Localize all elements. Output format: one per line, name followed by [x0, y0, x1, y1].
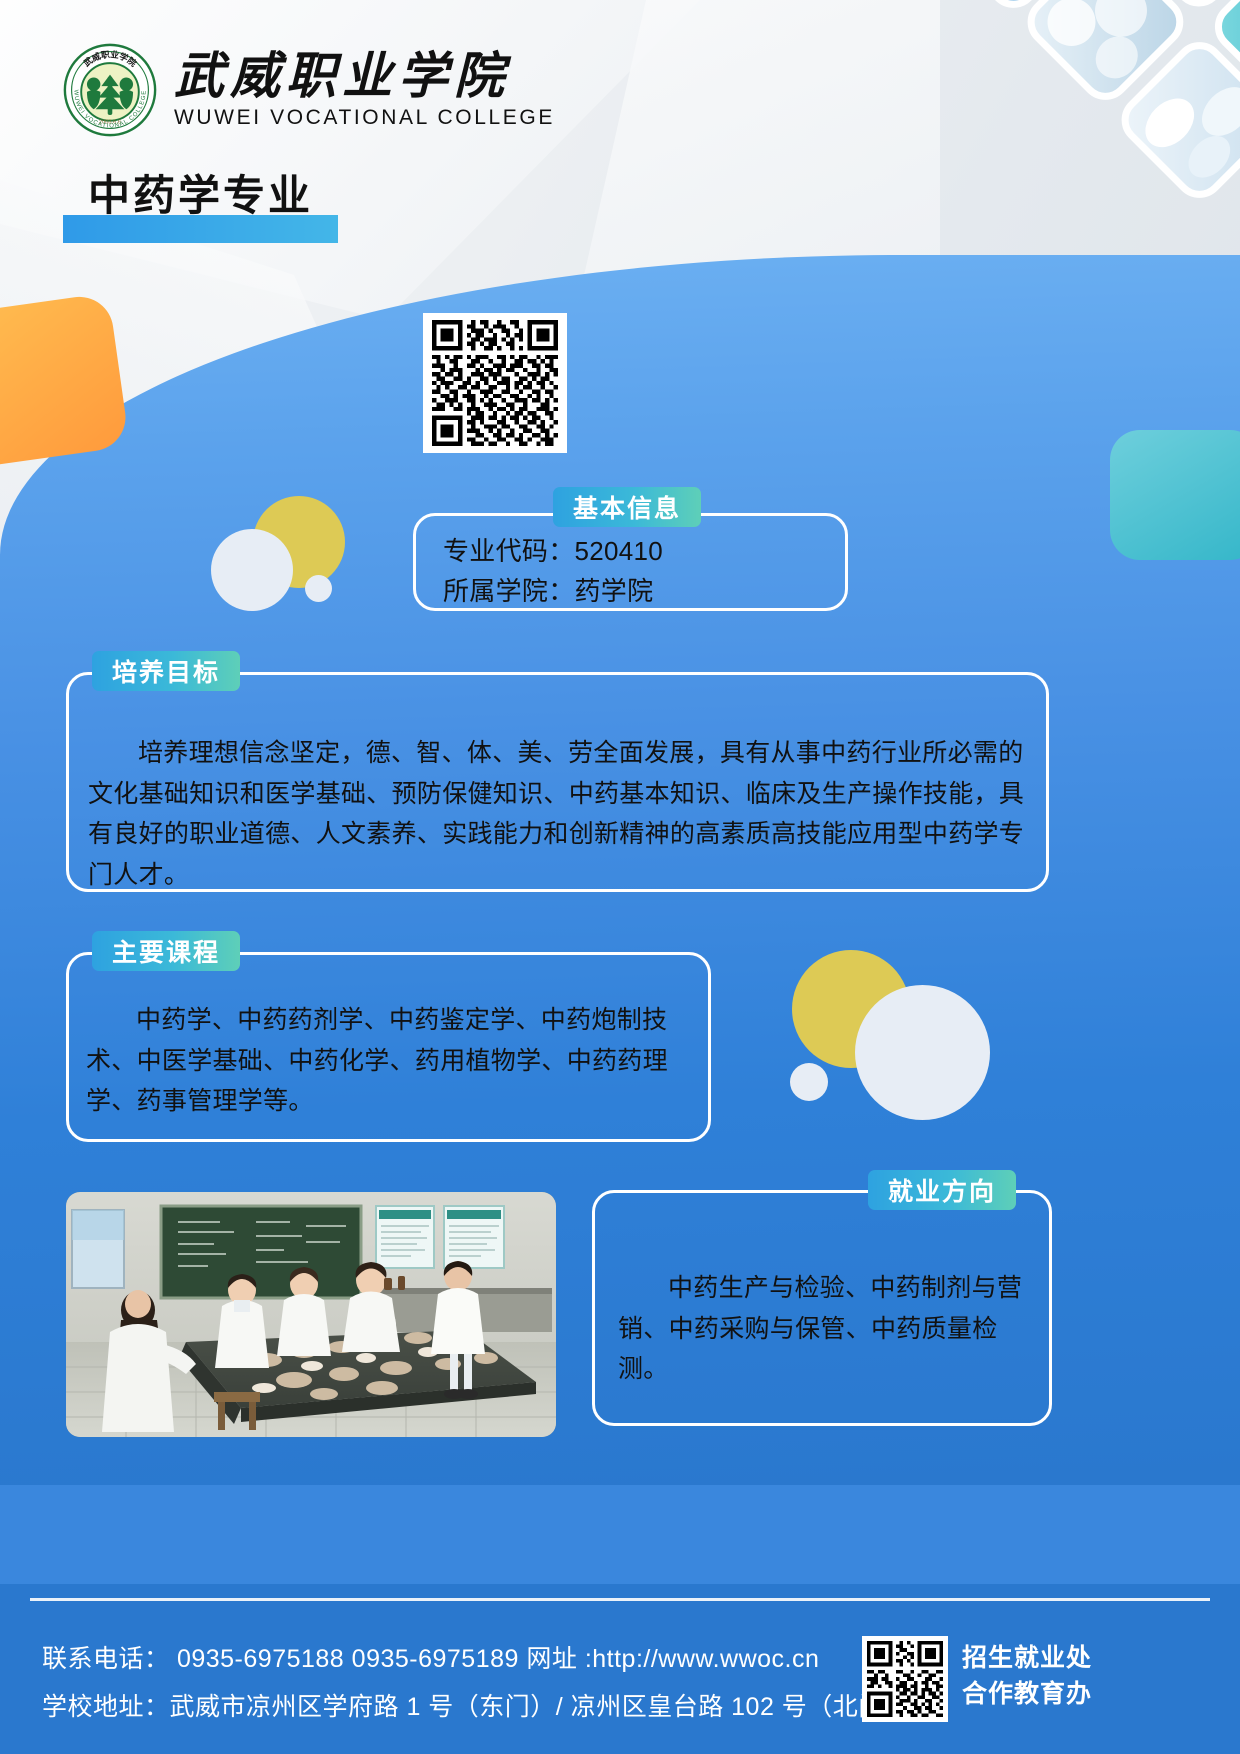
main-courses-label: 主要课程 [92, 931, 240, 971]
employment-text: 中药生产与检验、中药制剂与营销、中药采购与保管、中药质量检测。 [618, 1268, 1030, 1390]
basic-info-label: 基本信息 [553, 487, 701, 527]
employment-label: 就业方向 [868, 1170, 1016, 1210]
college-wordmark: 武威职业学院 WUWEI VOCATIONAL COLLEGE [174, 50, 555, 131]
major-code-line: 专业代码：520410 [443, 531, 843, 571]
training-goal-text: 培养理想信念坚定，德、智、体、美、劳全面发展，具有从事中药行业所必需的文化基础知… [88, 733, 1036, 895]
footer-divider [30, 1598, 1210, 1601]
college-name-en: WUWEI VOCATIONAL COLLEGE [174, 106, 555, 130]
main-courses-text: 中药学、中药药剂学、中药鉴定学、中药炮制技术、中医学基础、中药化学、药用植物学、… [86, 1000, 696, 1122]
footer-dept-line-2: 合作教育办 [962, 1676, 1092, 1712]
qr-code[interactable] [423, 313, 567, 453]
poster-root: 2003.6.6 武威职业学院 WUWEI VOCATIONAL COLLEGE… [0, 0, 1240, 1754]
footer-contact-line: 联系电话： 0935-6975188 0935-6975189 网址 :http… [42, 1639, 819, 1675]
decor-bubble-white-1 [211, 529, 293, 611]
footer-department: 招生就业处 合作教育办 [962, 1640, 1092, 1713]
footer-qr-code[interactable] [862, 1636, 948, 1722]
classroom-photo-image [66, 1192, 556, 1437]
major-title-block: 中药学专业 [60, 175, 327, 217]
footer: 联系电话： 0935-6975188 0935-6975189 网址 :http… [0, 1584, 1240, 1754]
footer-address-line: 学校地址：武威市凉州区学府路 1 号（东门）/ 凉州区皇台路 102 号（北门） [42, 1687, 909, 1723]
basic-info-text: 专业代码：520410 所属学院：药学院 [443, 531, 843, 612]
training-goal-label: 培养目标 [92, 651, 240, 691]
college-line: 所属学院：药学院 [443, 571, 843, 611]
decor-bubble-white-2 [305, 575, 332, 602]
qr-code-image [430, 320, 560, 446]
major-title-underline [63, 215, 338, 243]
college-name-cn: 武威职业学院 [174, 50, 555, 103]
classroom-photo [66, 1192, 556, 1437]
decor-bubble-white-4 [790, 1063, 828, 1101]
college-crest-icon: 2003.6.6 武威职业学院 WUWEI VOCATIONAL COLLEGE [62, 42, 158, 138]
footer-dept-line-1: 招生就业处 [962, 1640, 1092, 1676]
college-logo-row: 2003.6.6 武威职业学院 WUWEI VOCATIONAL COLLEGE… [62, 42, 555, 138]
decor-teal-square [1110, 430, 1240, 560]
page-title: 中药学专业 [60, 175, 327, 217]
footer-qr-code-image [867, 1641, 943, 1717]
decor-bubble-white-3 [855, 985, 990, 1120]
